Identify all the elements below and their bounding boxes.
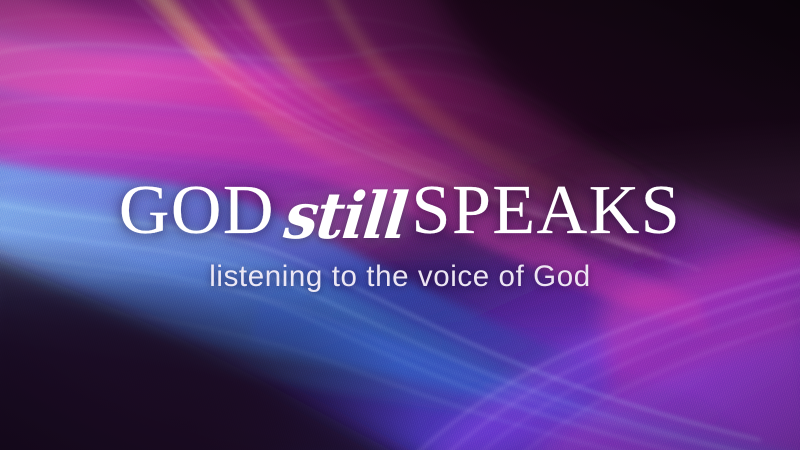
graphic-canvas: GODstillSPEAKS listening to the voice of… [0, 0, 800, 450]
top-veil-layer [0, 0, 800, 450]
